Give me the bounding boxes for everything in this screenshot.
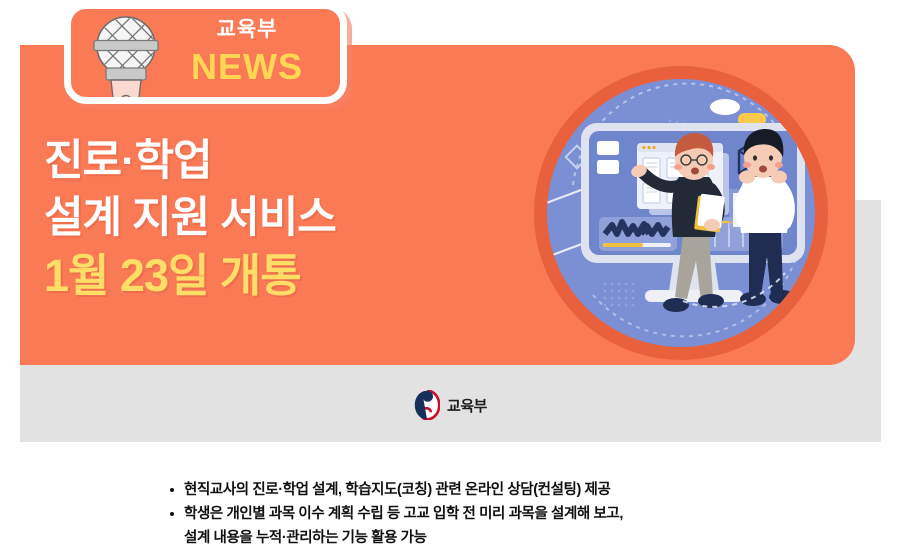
list-item: 현직교사의 진로·학업 설계, 학습지도(코칭) 관련 온라인 상담(컨설팅) … (168, 478, 868, 502)
list-item: 학생은 개인별 과목 이수 계획 수립 등 고교 입학 전 미리 과목을 설계해… (168, 502, 868, 550)
taegeuk-logo (414, 390, 440, 420)
bullet-line-1: 현직교사의 진로·학업 설계, 학습지도(코칭) 관련 온라인 상담(컨설팅) … (184, 482, 610, 498)
headline-block: 진로·학업 설계 지원 서비스 1월 23일 개통 (44, 133, 336, 304)
badge-text-group: 교육부 NEWS (172, 15, 322, 89)
headline-line-1: 진로·학업 (44, 133, 336, 190)
headline-line-2: 설계 지원 서비스 (44, 190, 336, 247)
badge-kicker: 교육부 (172, 15, 322, 45)
news-card: 교육부 NEWS 진로·학업 설계 지원 서비스 1월 23일 개통 (0, 0, 901, 443)
badge-title: NEWS (172, 45, 322, 89)
bullet-line-2: 설계 내용을 누적·관리하는 기능 활용 가능 (184, 526, 868, 550)
bullet-line-1: 학생은 개인별 과목 이수 계획 수립 등 고교 입학 전 미리 과목을 설계해… (184, 506, 623, 522)
news-badge: 교육부 NEWS (64, 2, 347, 104)
ministry-logo-strip: 교육부 (0, 382, 901, 428)
microphone-icon (85, 13, 167, 104)
notes-bullet-list: 현직교사의 진로·학업 설계, 학습지도(코칭) 관련 온라인 상담(컨설팅) … (168, 478, 868, 550)
students-at-monitor-illustration (533, 65, 829, 361)
ministry-name: 교육부 (447, 395, 487, 416)
headline-line-3: 1월 23일 개통 (44, 247, 336, 304)
